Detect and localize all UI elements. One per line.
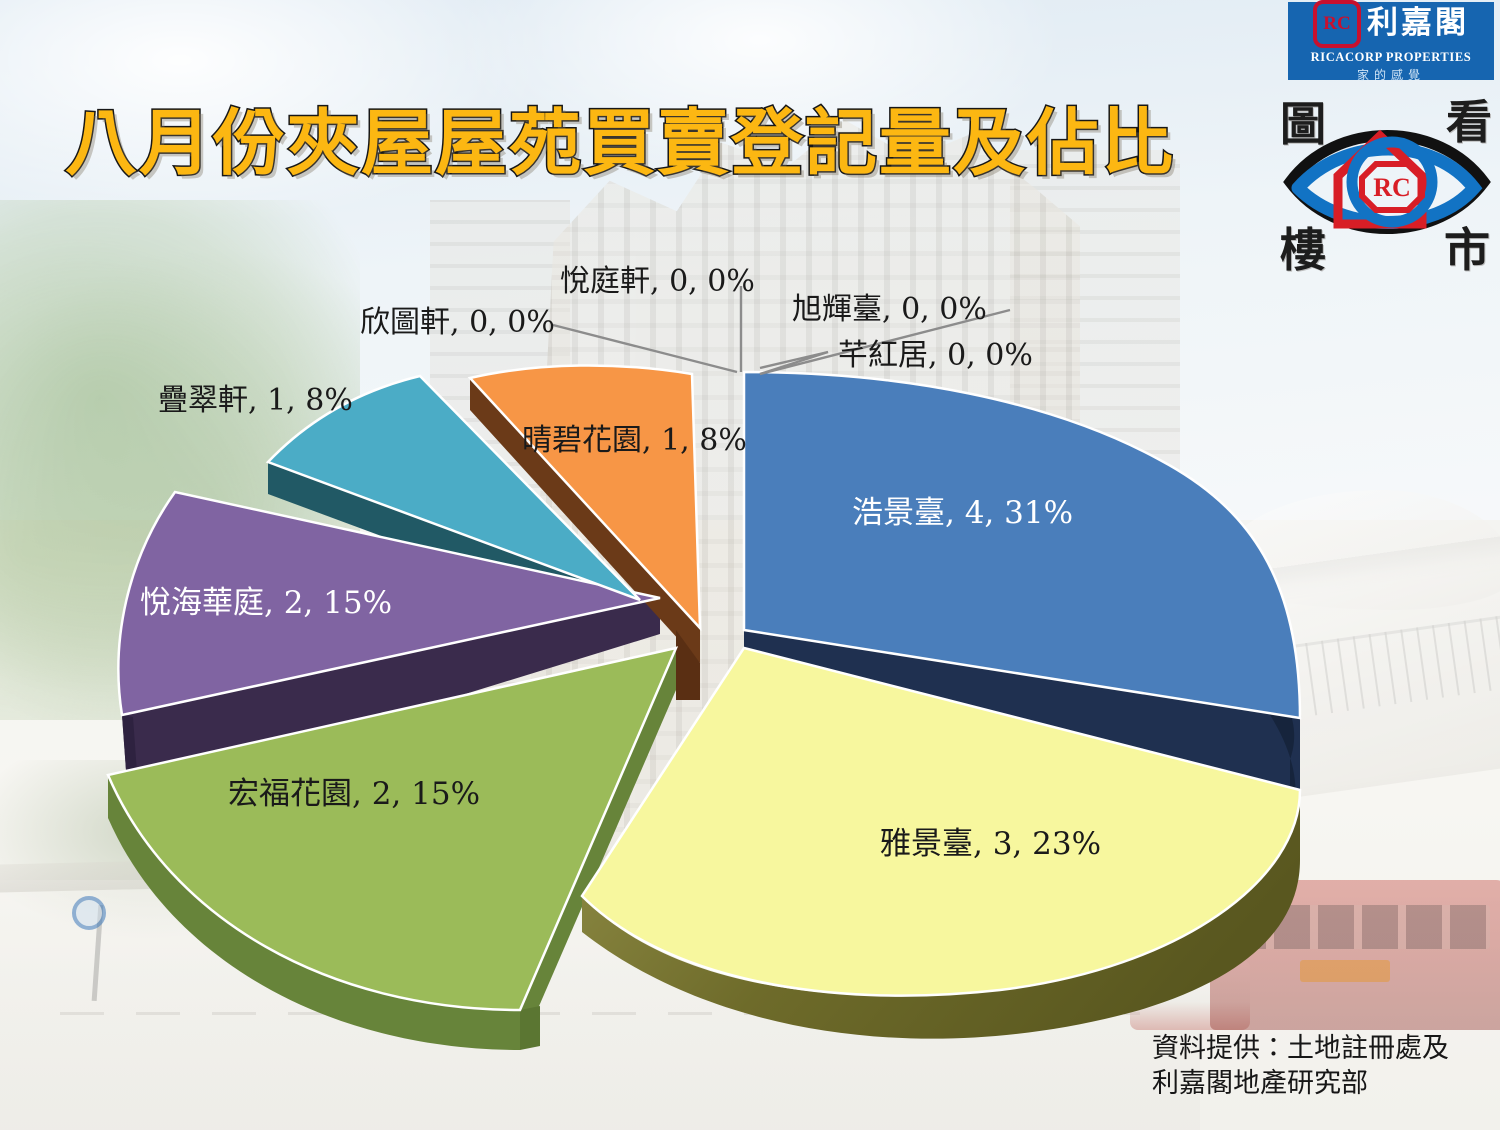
source-note: 資料提供：土地註冊處及 利嘉閣地產研究部 (1152, 1032, 1492, 1101)
leader-line-qianhongju-2 (760, 352, 828, 374)
slice-side-hongfuhuayuan-edge (520, 1006, 540, 1050)
pie-label-haojingtai: 浩景臺, 4, 31% (852, 487, 1073, 532)
pie-label-diecuixuan: 疊翠軒, 1, 8% (158, 375, 353, 419)
slide-canvas: 八月份夾屋屋苑買賣登記量及佔比 RC 利嘉閣 RICACORP PROPERTI… (0, 0, 1500, 1130)
pie-label-xintuxuan: 欣圖軒, 0, 0% (360, 297, 555, 341)
pie-label-yuetingxuan: 悅庭軒, 0, 0% (560, 256, 755, 300)
pie-label-qingbihuayuan: 晴碧花園, 1, 8% (522, 415, 747, 459)
pie-chart: 浩景臺, 4, 31% 雅景臺, 3, 23% 宏福花園, 2, 15% 悅海華… (0, 0, 1500, 1130)
pie-chart-svg (0, 0, 1500, 1130)
pie-label-xuhuitai: 旭輝臺, 0, 0% (792, 284, 987, 328)
pie-label-yuehaihuating: 悅海華庭, 2, 15% (140, 577, 392, 622)
pie-label-hongfuhuayuan: 宏福花園, 2, 15% (228, 768, 480, 813)
pie-label-qianhongju: 芊紅居, 0, 0% (838, 330, 1033, 374)
pie-label-yajingtai: 雅景臺, 3, 23% (880, 818, 1101, 863)
